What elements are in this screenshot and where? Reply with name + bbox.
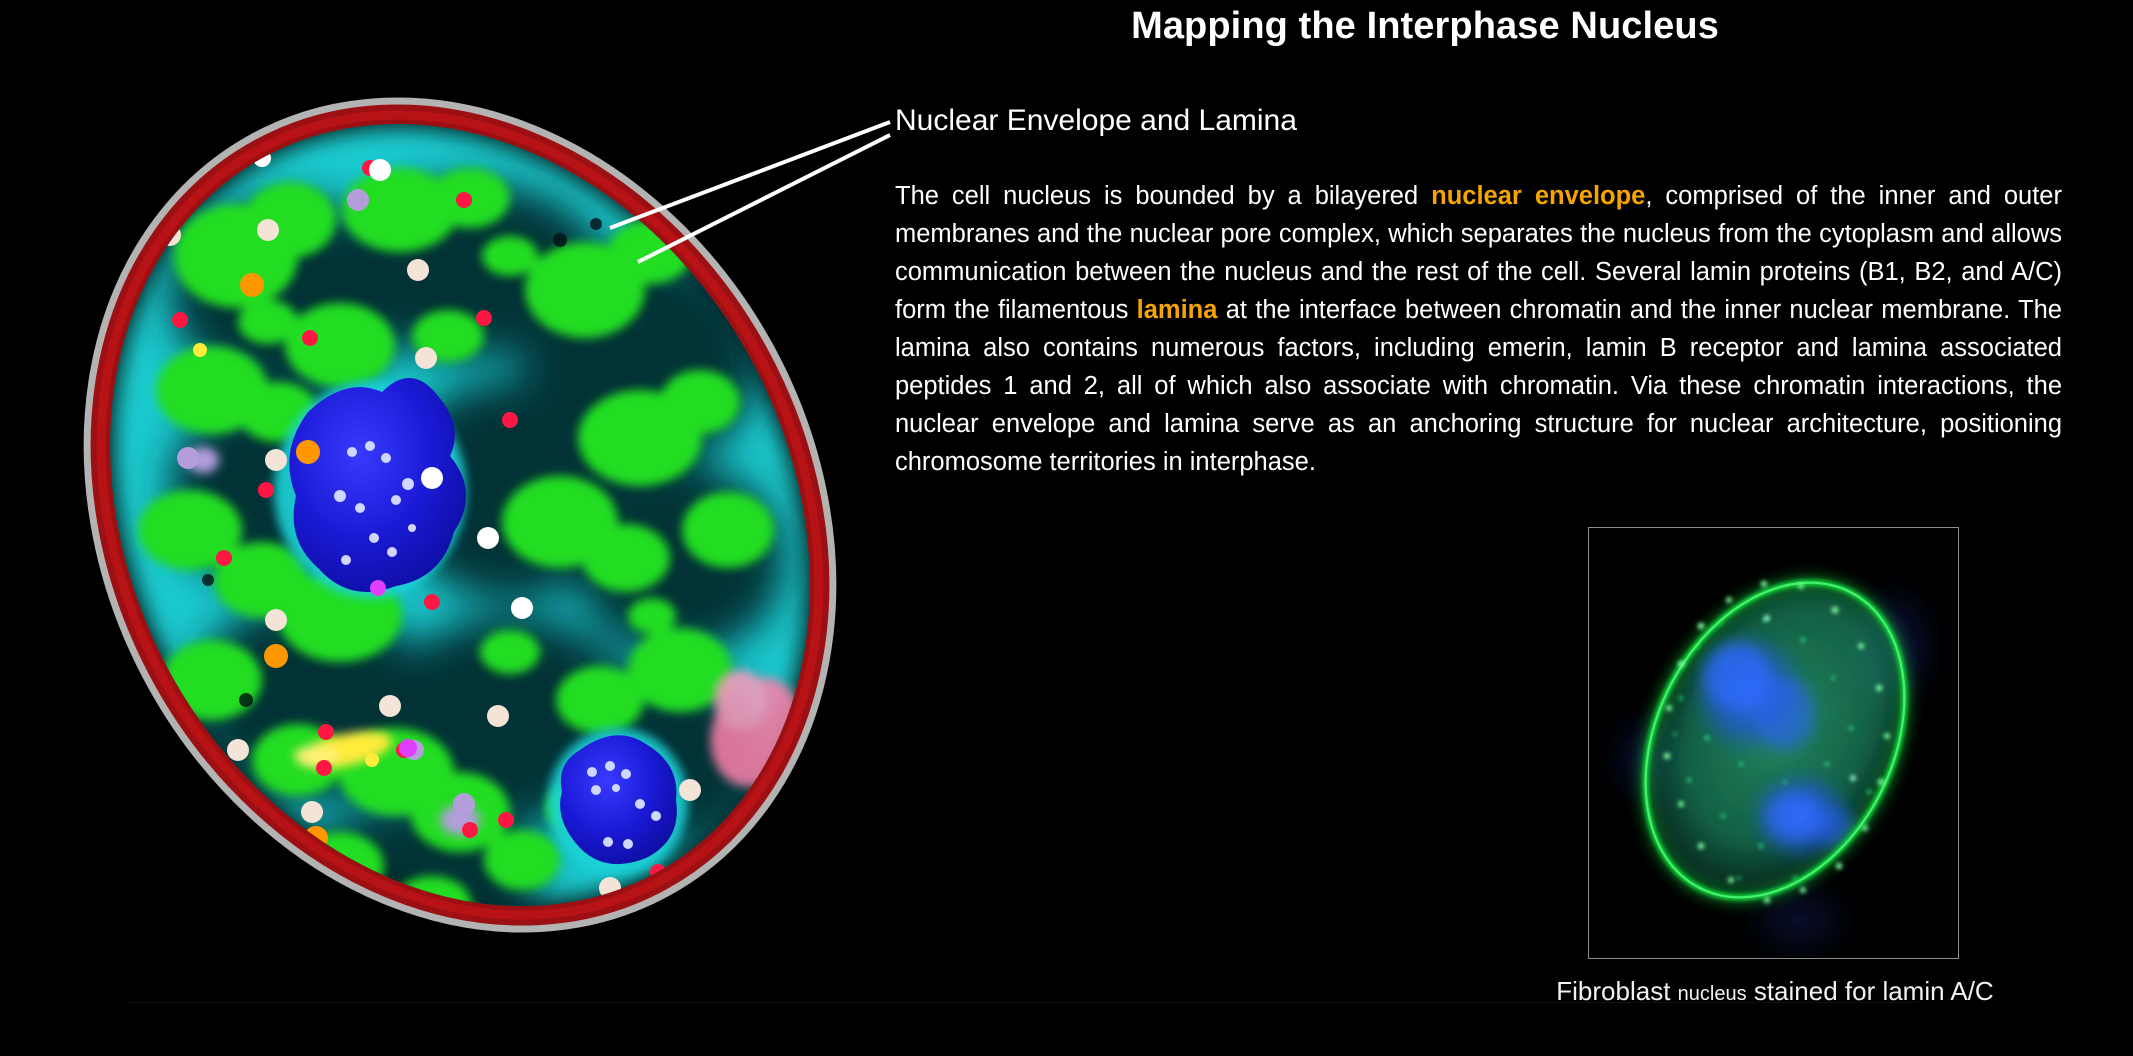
caption-part-one: Fibroblast: [1556, 976, 1677, 1006]
micrograph-inset: [1588, 527, 1959, 959]
highlighted-term: lamina: [1137, 296, 1218, 324]
highlighted-term: nuclear envelope: [1431, 182, 1645, 210]
section-heading: Nuclear Envelope and Lamina: [895, 104, 1595, 138]
page-title: Mapping the Interphase Nucleus: [760, 6, 2090, 48]
body-paragraph: The cell nucleus is bounded by a bilayer…: [895, 177, 2062, 481]
body-text-run: The cell nucleus is bounded by a bilayer…: [895, 182, 1431, 210]
caption-part-two: stained for lamin A/C: [1747, 976, 1994, 1006]
nucleolus-small: [548, 728, 688, 876]
caption-small-word: nucleus: [1678, 983, 1747, 1005]
micrograph-caption: Fibroblast nucleus stained for lamin A/C: [1430, 976, 2120, 1007]
interphase-nucleus-illustration: [40, 60, 940, 1000]
